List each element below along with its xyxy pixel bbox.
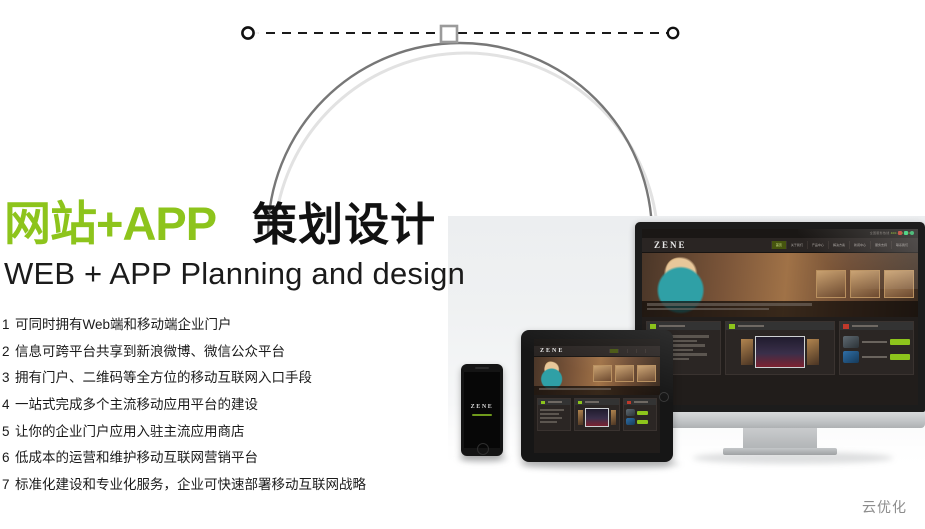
content-column-showcase [725, 321, 836, 375]
tablet-screen: ZENE [534, 339, 660, 453]
endpoint-left-circle [242, 27, 253, 38]
tablet-hero [534, 357, 660, 395]
list-item: 6 低成本的运营和维护移动互联网营销平台 [2, 451, 432, 465]
website-preview-tablet: ZENE [534, 339, 660, 453]
watermark: 云优化 [862, 497, 907, 517]
tablet-mockup: ZENE [521, 330, 673, 462]
list-item-number: 7 [2, 478, 15, 492]
promo-button[interactable] [890, 354, 910, 360]
hotline-label: 全国服务热线 [870, 231, 890, 235]
monitor-stand-foot [723, 448, 837, 455]
monitor-chin [635, 412, 925, 428]
slide-canvas: 全国服务热线 400-071-8008 ZENE 首页 关于我们 [0, 0, 925, 529]
phone-body: ZENE [461, 364, 503, 456]
phone-app-tagline [472, 414, 493, 416]
list-item-number: 2 [2, 345, 15, 359]
list-item: 1 可同时拥有Web端和移动端企业门户 [2, 318, 432, 332]
list-item: 2 信息可跨平台共享到新浪微博、微信公众平台 [2, 345, 432, 359]
tablet-promo-button[interactable] [637, 411, 648, 415]
website-preview-desktop: 全国服务热线 400-071-8008 ZENE 首页 关于我们 [642, 229, 918, 405]
list-item-number: 1 [2, 318, 15, 332]
monitor-screen: 全国服务热线 400-071-8008 ZENE 首页 关于我们 [642, 229, 918, 405]
list-item: 4 一站式完成多个主流移动应用平台的建设 [2, 398, 432, 412]
tablet-nav-item[interactable] [636, 349, 645, 353]
list-item-number: 6 [2, 451, 15, 465]
nav-item-products[interactable]: 产品中心 [807, 241, 828, 249]
phone-earpiece [475, 367, 489, 369]
list-item-text: 低成本的运营和维护移动互联网营销平台 [15, 451, 258, 465]
site-content-columns [642, 317, 918, 379]
promo-button[interactable] [890, 339, 910, 345]
monitor-bezel: 全国服务热线 400-071-8008 ZENE 首页 关于我们 [635, 222, 925, 412]
list-item-text: 一站式完成多个主流移动应用平台的建设 [15, 398, 258, 412]
hero-thumbnails [816, 270, 914, 298]
endpoint-right-circle [668, 28, 678, 38]
list-item: 3 拥有门户、二维码等全方位的移动互联网入口手段 [2, 371, 432, 385]
social-icons [896, 231, 914, 236]
list-item: 5 让你的企业门户应用入驻主流应用商店 [2, 425, 432, 439]
nav-item-home[interactable]: 首页 [771, 241, 786, 249]
monitor-stand-neck [743, 428, 817, 450]
tablet-nav-items [609, 349, 654, 353]
site-navbar: ZENE 首页 关于我们 产品中心 解决方案 新闻中心 服务支持 联系我们 [642, 238, 918, 253]
phone-app-logo: ZENE [471, 404, 494, 410]
tablet-site-navbar: ZENE [534, 346, 660, 357]
hero-thumb[interactable] [816, 270, 846, 298]
list-item-number: 4 [2, 398, 15, 412]
list-item: 7 标准化建设和专业化服务，企业可快速部署移动互联网战略 [2, 478, 432, 492]
list-item-text: 标准化建设和专业化服务，企业可快速部署移动互联网战略 [15, 478, 366, 492]
headline-english: WEB + APP Planning and design [4, 256, 465, 292]
site-hero-banner [642, 253, 918, 317]
tablet-site-logo: ZENE [540, 348, 564, 354]
list-item-text: 信息可跨平台共享到新浪微博、微信公众平台 [15, 345, 285, 359]
hero-thumb[interactable] [884, 270, 914, 298]
feature-list: 1 可同时拥有Web端和移动端企业门户 2 信息可跨平台共享到新浪微博、微信公众… [2, 318, 432, 505]
tablet-nav-item[interactable] [609, 349, 618, 353]
desktop-monitor-mockup: 全国服务热线 400-071-8008 ZENE 首页 关于我们 [635, 222, 925, 454]
list-item-text: 可同时拥有Web端和移动端企业门户 [15, 318, 232, 332]
headline-black: 策划设计 [252, 202, 436, 247]
phone-screen: ZENE [464, 372, 500, 448]
tablet-home-button[interactable] [659, 392, 669, 402]
tablet-content-columns [534, 395, 660, 434]
site-nav-items: 首页 关于我们 产品中心 解决方案 新闻中心 服务支持 联系我们 [771, 241, 912, 249]
tablet-browser-bar [534, 339, 660, 346]
nav-item-news[interactable]: 新闻中心 [849, 241, 870, 249]
list-item-number: 3 [2, 371, 15, 385]
smartphone-mockup: ZENE [461, 364, 503, 456]
content-column-promo [839, 321, 914, 375]
list-item-text: 让你的企业门户应用入驻主流应用商店 [15, 425, 245, 439]
hero-caption [642, 301, 918, 317]
square-handle [441, 26, 457, 42]
tablet-nav-item[interactable] [627, 349, 636, 353]
tablet-nav-item[interactable] [618, 349, 627, 353]
headline-chinese-row: 网站+APP 策划设计 [4, 200, 524, 247]
tablet-promo-button[interactable] [637, 420, 648, 424]
nav-item-solutions[interactable]: 解决方案 [828, 241, 849, 249]
list-item-number: 5 [2, 425, 15, 439]
nav-item-support[interactable]: 服务支持 [870, 241, 891, 249]
hero-thumb[interactable] [850, 270, 880, 298]
tablet-body: ZENE [521, 330, 673, 462]
headline-green: 网站+APP [4, 200, 216, 247]
site-utility-bar: 全国服务热线 400-071-8008 [642, 229, 918, 238]
site-logo: ZENE [654, 240, 687, 250]
tablet-nav-item[interactable] [645, 349, 654, 353]
phone-home-button[interactable] [477, 443, 489, 455]
nav-item-contact[interactable]: 联系我们 [891, 241, 912, 249]
showcase-feature-image [755, 336, 805, 368]
nav-item-about[interactable]: 关于我们 [786, 241, 807, 249]
headline-block: 网站+APP 策划设计 WEB + APP Planning and desig… [4, 200, 524, 266]
list-item-text: 拥有门户、二维码等全方位的移动互联网入口手段 [15, 371, 312, 385]
